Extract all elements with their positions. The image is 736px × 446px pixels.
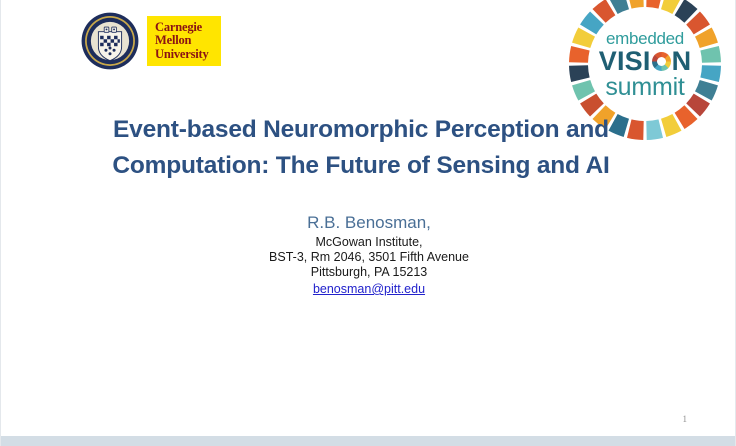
cmu-wordmark-line-1: Carnegie (155, 21, 221, 35)
cmu-wordmark-line-2: Mellon (155, 34, 221, 48)
carnegie-mellon-seal-icon (81, 12, 139, 70)
page-number: 1 (683, 414, 688, 424)
affiliation-line-2: BST-3, Rm 2046, 3501 Fifth Avenue (1, 250, 736, 265)
affiliation-line-1: McGowan Institute, (1, 235, 736, 250)
carnegie-mellon-wordmark: Carnegie Mellon University (147, 16, 221, 66)
carnegie-mellon-logo: Carnegie Mellon University (81, 12, 221, 70)
title-line-1: Event-based Neuromorphic Perception and (51, 112, 671, 148)
author-block: R.B. Benosman, McGowan Institute, BST-3,… (1, 212, 736, 298)
author-email-link[interactable]: benosman@pitt.edu (313, 281, 425, 297)
affiliation-line-3: Pittsburgh, PA 15213 (1, 265, 736, 280)
author-name: R.B. Benosman, (1, 212, 736, 234)
title-line-2: Computation: The Future of Sensing and A… (51, 148, 671, 184)
page-title: Event-based Neuromorphic Perception and … (51, 112, 671, 184)
footer-bar (1, 436, 736, 446)
presentation-slide: Carnegie Mellon University embedded VISI… (0, 0, 736, 446)
cmu-wordmark-line-3: University (155, 48, 221, 62)
